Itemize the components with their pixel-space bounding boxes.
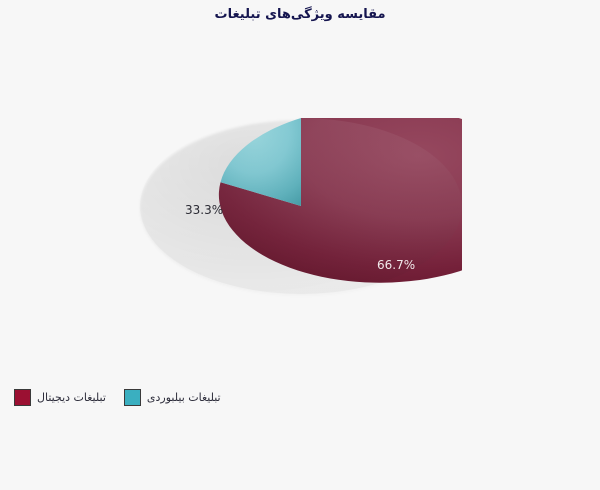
chart-canvas: مقایسه ویژگی‌های تبلیغات (0, 0, 600, 490)
legend-item-digital[interactable]: تبلیغات دیجیتال (14, 389, 112, 406)
slice-label-digital: 66.7% (377, 258, 415, 272)
legend-swatch-billboard (124, 389, 141, 406)
slice-label-billboard: 33.3% (185, 203, 223, 217)
legend-swatch-digital (14, 389, 31, 406)
plot-area: 33.3% 66.7% (0, 40, 600, 370)
legend-item-billboard[interactable]: تبلیغات بیلبوردی (124, 389, 227, 406)
legend-label-digital: تبلیغات دیجیتال (37, 391, 106, 404)
chart-title: مقایسه ویژگی‌های تبلیغات (0, 5, 600, 25)
legend-label-billboard: تبلیغات بیلبوردی (147, 391, 221, 404)
chart-legend: تبلیغات دیجیتال تبلیغات بیلبوردی (14, 385, 239, 409)
occluded-slice-label (287, 317, 320, 332)
